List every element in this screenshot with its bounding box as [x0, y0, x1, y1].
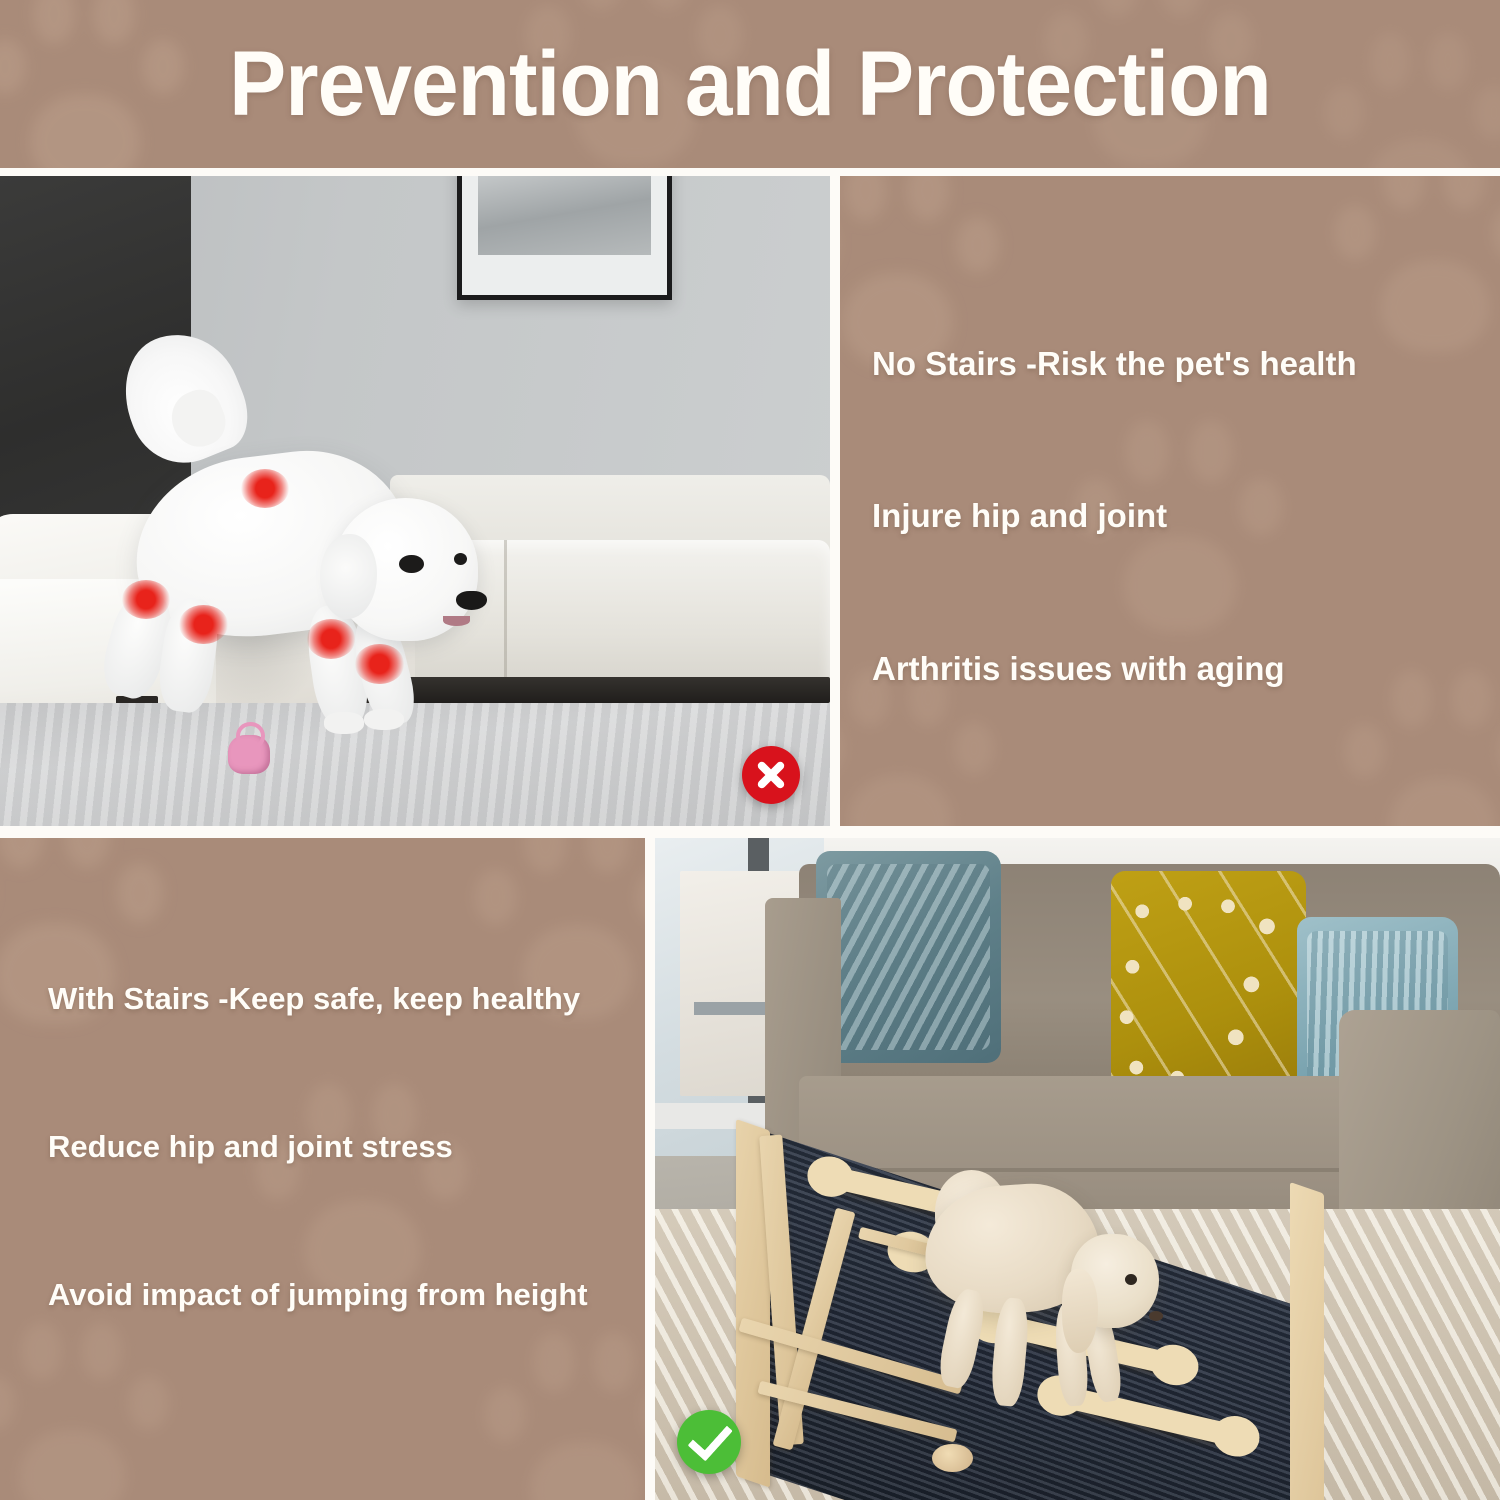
dog-paw [324, 712, 364, 733]
benefit-item-3: Avoid impact of jumping from height [48, 1276, 615, 1314]
white-bichon-dog [91, 391, 531, 749]
photo-scene-living-room [0, 176, 830, 826]
photo-scene-ramp [655, 838, 1500, 1500]
teal-chevron-pillow [816, 851, 1002, 1063]
risk-item-1: No Stairs -Risk the pet's health [872, 344, 1490, 384]
dog-mouth [443, 616, 469, 627]
ramp-pivot-hinge [932, 1444, 973, 1472]
dog-jumping-off-sofa-photo [0, 176, 830, 826]
risks-text-panel: No Stairs -Risk the pet's health Injure … [840, 176, 1500, 826]
benefits-text-panel: With Stairs -Keep safe, keep healthy Red… [0, 838, 645, 1500]
risk-item-3: Arthritis issues with aging [872, 649, 1490, 689]
benefit-item-1: With Stairs -Keep safe, keep healthy [48, 980, 615, 1018]
dog-hind-leg [935, 1286, 989, 1389]
dog-paw [364, 709, 404, 730]
cross-badge [742, 746, 800, 804]
dog-on-wooden-ramp-photo [655, 838, 1500, 1500]
dog-eye [1125, 1274, 1137, 1285]
ramp-side-rail [1290, 1182, 1324, 1500]
wooden-pet-ramp [723, 1103, 1399, 1500]
dog-hind-leg [989, 1297, 1030, 1408]
dog-nose [456, 591, 487, 610]
dog-eye [399, 555, 424, 573]
check-badge [677, 1410, 741, 1474]
risks-list: No Stairs -Risk the pet's health Injure … [872, 344, 1490, 689]
framed-picture [457, 176, 673, 300]
dog-nose [1149, 1311, 1162, 1321]
pain-marker [179, 605, 227, 644]
page-title: Prevention and Protection [53, 0, 1448, 168]
benefit-item-2: Reduce hip and joint stress [48, 1128, 615, 1166]
pain-marker [355, 644, 403, 683]
risk-item-2: Injure hip and joint [872, 496, 1490, 536]
pain-marker [307, 619, 355, 658]
header-banner: Prevention and Protection [0, 0, 1500, 168]
infographic-page: Prevention and Protection [0, 0, 1500, 1500]
benefits-list: With Stairs -Keep safe, keep healthy Red… [48, 980, 615, 1313]
cream-dog-on-ramp [925, 1170, 1168, 1416]
